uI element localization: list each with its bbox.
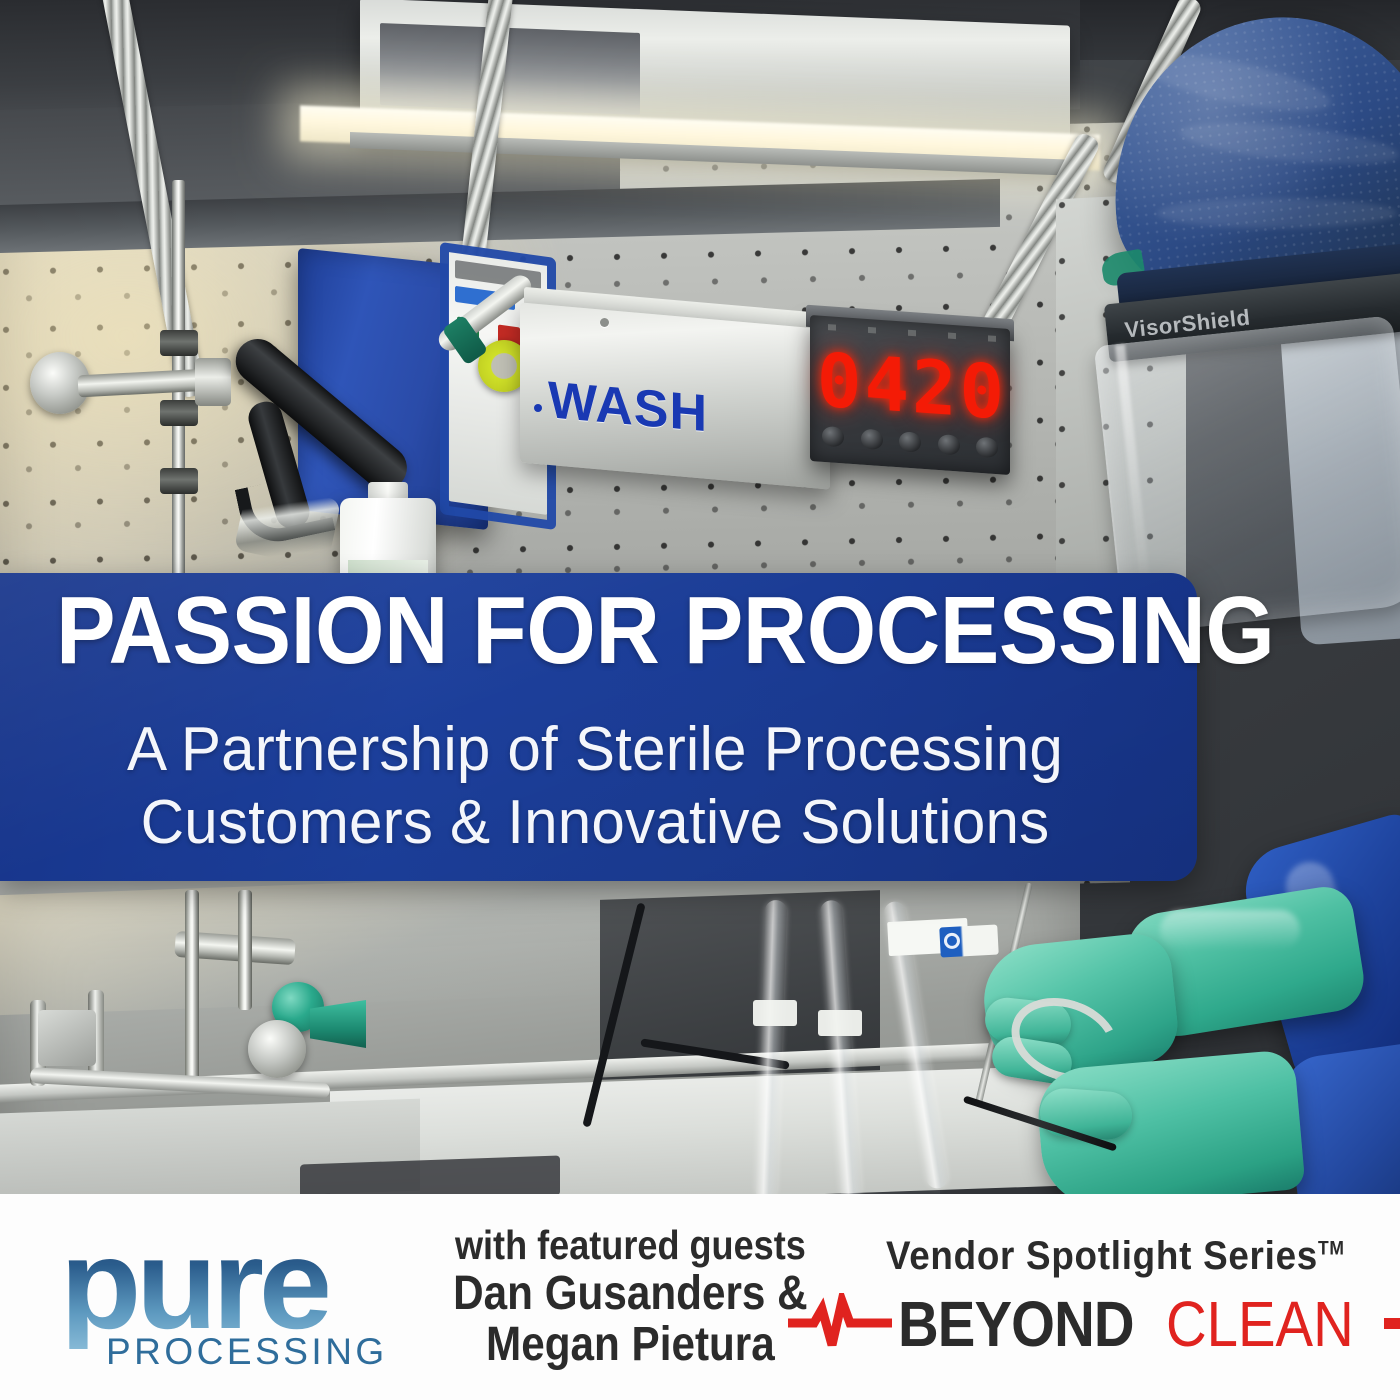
pole-clamp-mid bbox=[160, 400, 198, 426]
series-label-text: Vendor Spotlight Series bbox=[886, 1234, 1318, 1278]
footer-guests-column: with featured guests Dan Gusanders & Meg… bbox=[430, 1194, 830, 1400]
wall-valve-knob bbox=[195, 358, 231, 406]
subtitle-line-1: A Partnership of Sterile Processing bbox=[18, 713, 1172, 786]
footer-bar: pure PROCESSING with featured guests Dan… bbox=[0, 1194, 1400, 1400]
vendor-spotlight-series-label: Vendor Spotlight SeriesTM bbox=[886, 1234, 1345, 1279]
faucet-riser-left bbox=[185, 890, 199, 1090]
beyondclean-right-dash bbox=[1384, 1318, 1400, 1329]
timer-button-2[interactable] bbox=[861, 429, 883, 451]
tube-label-tag-blue bbox=[939, 925, 998, 958]
subtitle-line-2: Customers & Innovative Solutions bbox=[18, 786, 1172, 859]
pure-processing-logo[interactable]: pure PROCESSING bbox=[60, 1227, 370, 1367]
tube-band-2 bbox=[818, 1010, 862, 1036]
footer-series-column: Vendor Spotlight SeriesTM BEYOND CLEAN bbox=[830, 1194, 1400, 1400]
guest-name-line-1: Dan Gusanders & bbox=[453, 1268, 807, 1319]
glove-finger-3 bbox=[1038, 1087, 1133, 1141]
wash-panel-screw bbox=[600, 318, 609, 327]
beyondclean-logo[interactable]: BEYOND CLEAN bbox=[788, 1287, 1400, 1361]
featured-guests-block: with featured guests Dan Gusanders & Meg… bbox=[453, 1224, 807, 1371]
timer-button-1[interactable] bbox=[822, 426, 844, 448]
webinar-promo-poster: WASH 0420 VisorShield bbox=[0, 0, 1400, 1400]
wash-label-bullet bbox=[534, 404, 542, 412]
pole-clamp-upper bbox=[160, 330, 198, 356]
page-title: PASSION FOR PROCESSING bbox=[56, 583, 1088, 679]
glove-highlight bbox=[1160, 910, 1300, 950]
beyondclean-beyond-text: BEYOND bbox=[898, 1287, 1134, 1361]
trademark-symbol: TM bbox=[1318, 1238, 1345, 1259]
beyondclean-clean-text: CLEAN bbox=[1166, 1287, 1354, 1361]
pure-logo-wordmark: pure bbox=[60, 1221, 328, 1349]
light-housing-recess bbox=[380, 23, 640, 115]
title-banner: PASSION FOR PROCESSING A Partnership of … bbox=[0, 573, 1197, 881]
tube-band-1 bbox=[753, 1000, 797, 1026]
cap-fold-3 bbox=[1157, 198, 1397, 228]
pure-logo-subword: PROCESSING bbox=[106, 1331, 388, 1373]
faucet-riser-right bbox=[238, 890, 252, 1010]
sink-fitting-box bbox=[38, 1010, 96, 1066]
timer-button-5[interactable] bbox=[976, 437, 998, 459]
faucet-gauge bbox=[248, 1020, 306, 1078]
pole-clamp-lower bbox=[160, 468, 198, 494]
footer-brand-column: pure PROCESSING bbox=[0, 1194, 430, 1400]
timer-button-3[interactable] bbox=[899, 431, 921, 453]
timer-readout: 0420 bbox=[826, 342, 998, 432]
guest-name-line-2: Megan Pietura bbox=[453, 1319, 807, 1370]
timer-button-4[interactable] bbox=[938, 434, 960, 456]
guests-intro-line: with featured guests bbox=[453, 1224, 807, 1268]
page-subtitle: A Partnership of Sterile Processing Cust… bbox=[18, 713, 1172, 859]
